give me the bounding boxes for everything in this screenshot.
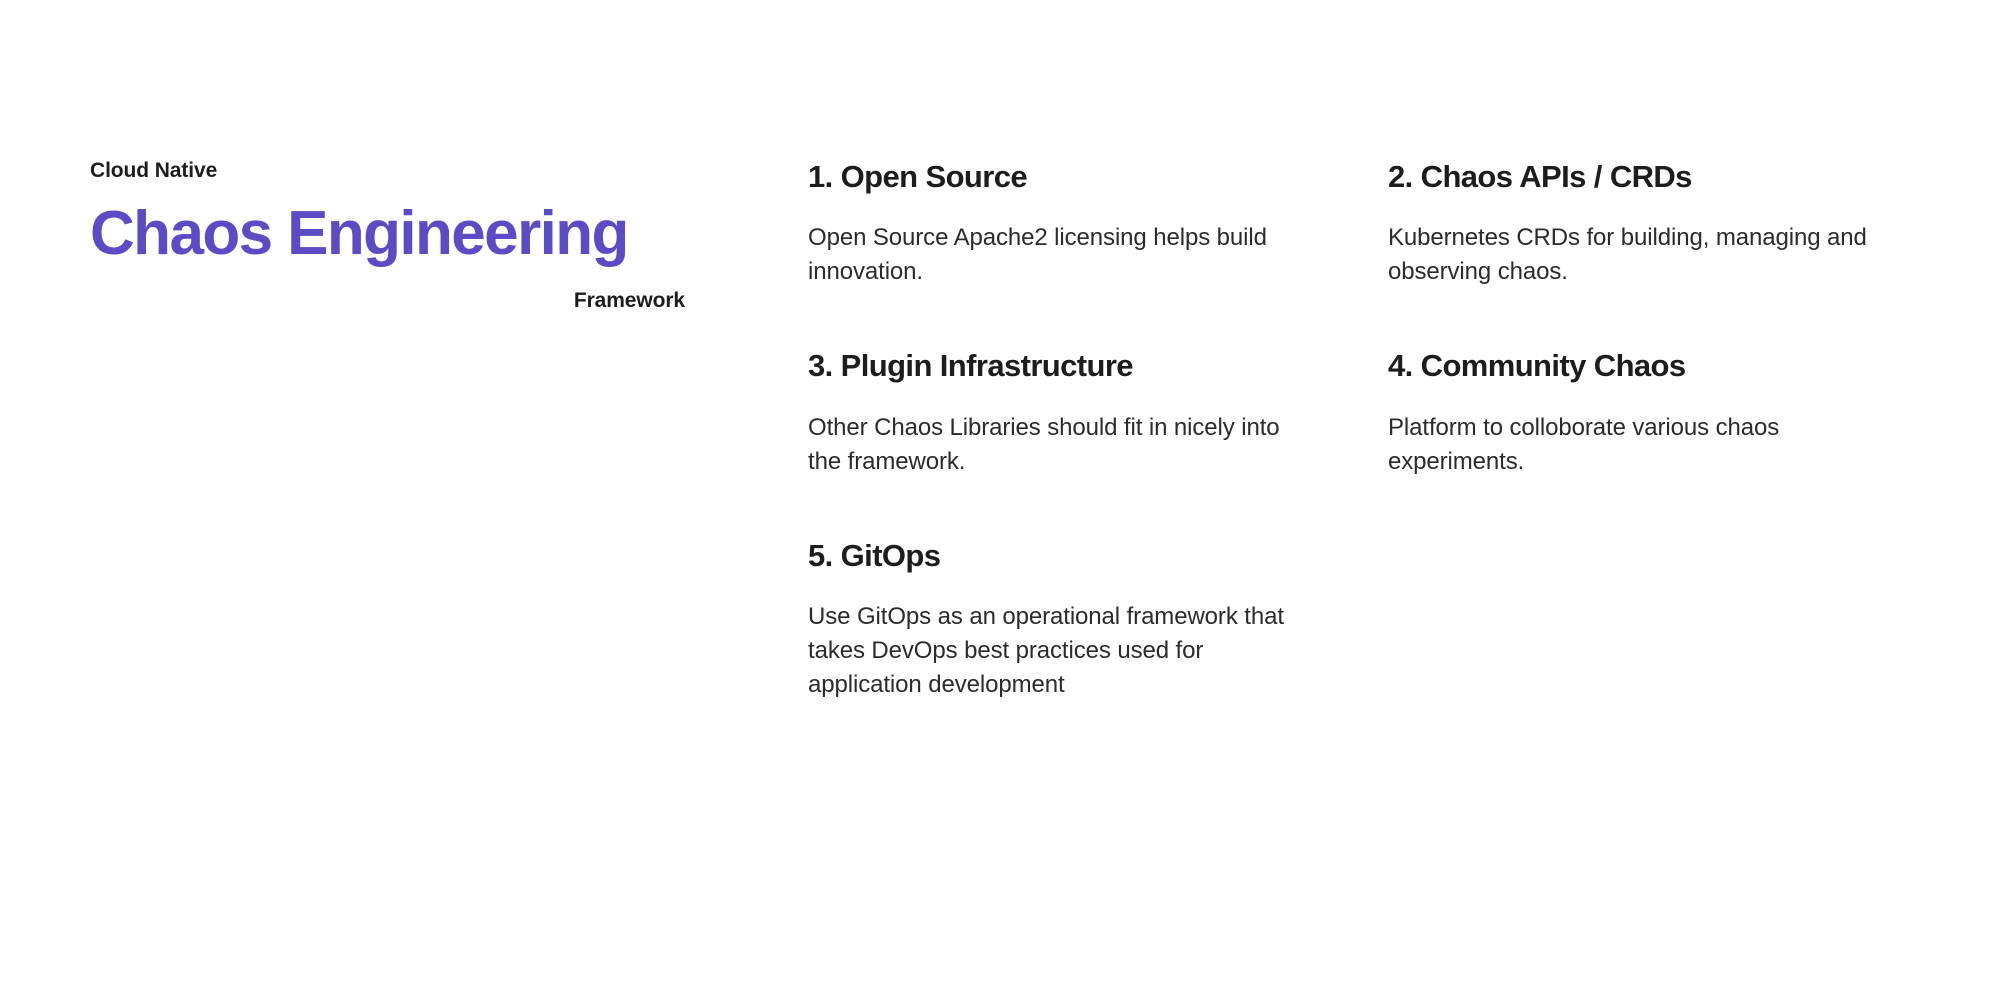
- feature-body: Platform to colloborate various chaos ex…: [1388, 411, 1908, 479]
- feature-column-1: 1. Open Source Open Source Apache2 licen…: [808, 158, 1328, 702]
- page-title: Chaos Engineering: [90, 201, 690, 266]
- feature-title: 1. Open Source: [808, 158, 1328, 195]
- feature-body: Kubernetes CRDs for building, managing a…: [1388, 221, 1908, 289]
- title-block: Cloud Native Chaos Engineering Framework: [90, 158, 690, 313]
- feature-title: 5. GitOps: [808, 537, 1328, 574]
- subtitle-label: Framework: [90, 288, 685, 313]
- feature-item: 3. Plugin Infrastructure Other Chaos Lib…: [808, 347, 1328, 478]
- feature-item: 4. Community Chaos Platform to collobora…: [1388, 347, 1908, 478]
- feature-columns: 1. Open Source Open Source Apache2 licen…: [808, 158, 1928, 702]
- feature-body: Other Chaos Libraries should fit in nice…: [808, 411, 1308, 479]
- slide-canvas: Cloud Native Chaos Engineering Framework…: [0, 0, 2000, 1000]
- feature-item: 1. Open Source Open Source Apache2 licen…: [808, 158, 1328, 289]
- feature-title: 3. Plugin Infrastructure: [808, 347, 1328, 384]
- feature-item: 5. GitOps Use GitOps as an operational f…: [808, 537, 1328, 702]
- feature-title: 2. Chaos APIs / CRDs: [1388, 158, 1908, 195]
- feature-body: Use GitOps as an operational framework t…: [808, 600, 1308, 702]
- feature-column-2: 2. Chaos APIs / CRDs Kubernetes CRDs for…: [1388, 158, 1908, 537]
- feature-body: Open Source Apache2 licensing helps buil…: [808, 221, 1308, 289]
- feature-title: 4. Community Chaos: [1388, 347, 1908, 384]
- eyebrow-label: Cloud Native: [90, 158, 690, 183]
- feature-item: 2. Chaos APIs / CRDs Kubernetes CRDs for…: [1388, 158, 1908, 289]
